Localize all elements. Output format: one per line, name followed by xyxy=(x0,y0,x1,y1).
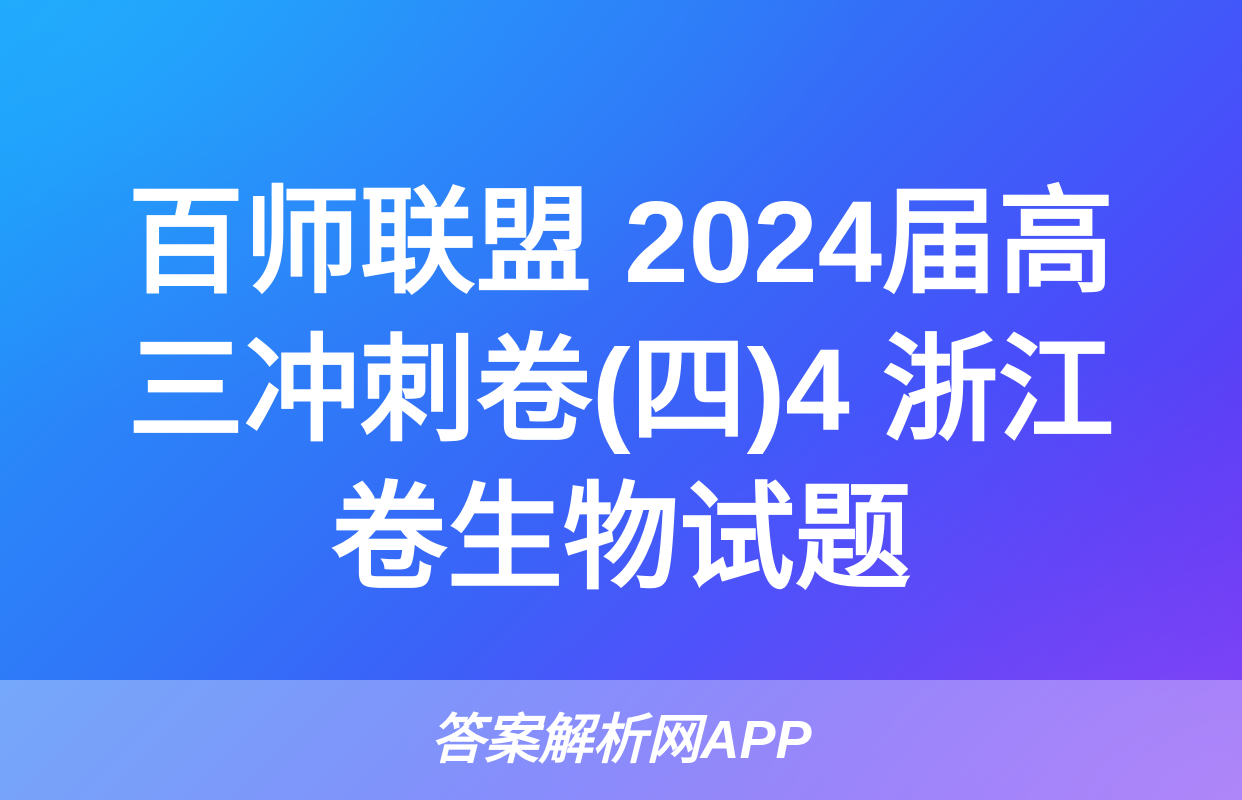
page-title: 百师联盟 2024届高三冲刺卷(四)4 浙江卷生物试题 xyxy=(74,168,1168,612)
poster-title-block: 百师联盟 2024届高三冲刺卷(四)4 浙江卷生物试题 xyxy=(0,168,1242,612)
watermark-band: 答案解析网APP xyxy=(0,680,1242,800)
watermark-app-label: 答案解析网APP xyxy=(430,713,811,767)
poster-canvas: 百师联盟 2024届高三冲刺卷(四)4 浙江卷生物试题 答案解析网APP xyxy=(0,0,1242,800)
